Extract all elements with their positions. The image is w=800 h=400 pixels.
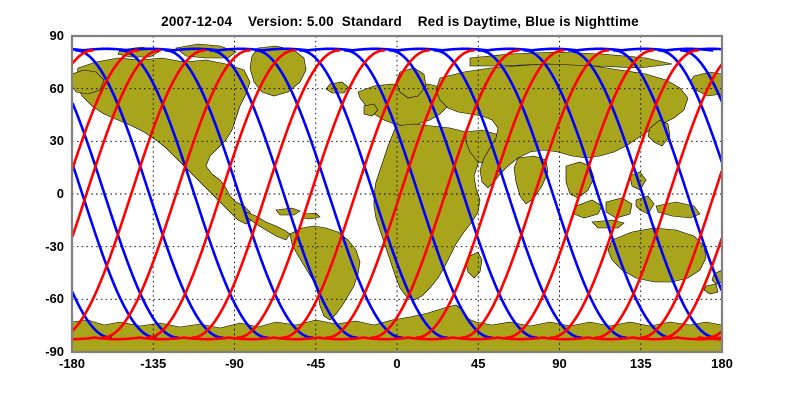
ground-track-plot — [0, 0, 800, 400]
y-tick-label: -30 — [14, 239, 64, 254]
x-tick-label: -180 — [42, 356, 102, 371]
x-tick-label: 0 — [367, 356, 427, 371]
x-tick-label: -45 — [286, 356, 346, 371]
y-tick-label: 90 — [14, 28, 64, 43]
x-tick-label: -90 — [205, 356, 265, 371]
x-tick-label: 45 — [448, 356, 508, 371]
x-tick-label: 135 — [611, 356, 671, 371]
y-tick-label: 0 — [14, 186, 64, 201]
x-tick-label: 90 — [530, 356, 590, 371]
figure-canvas: 2007-12-04 Version: 5.00 Standard Red is… — [0, 0, 800, 400]
y-tick-label: 30 — [14, 133, 64, 148]
x-tick-label: -135 — [123, 356, 183, 371]
y-tick-label: -60 — [14, 291, 64, 306]
x-tick-label: 180 — [692, 356, 752, 371]
y-tick-label: 60 — [14, 81, 64, 96]
